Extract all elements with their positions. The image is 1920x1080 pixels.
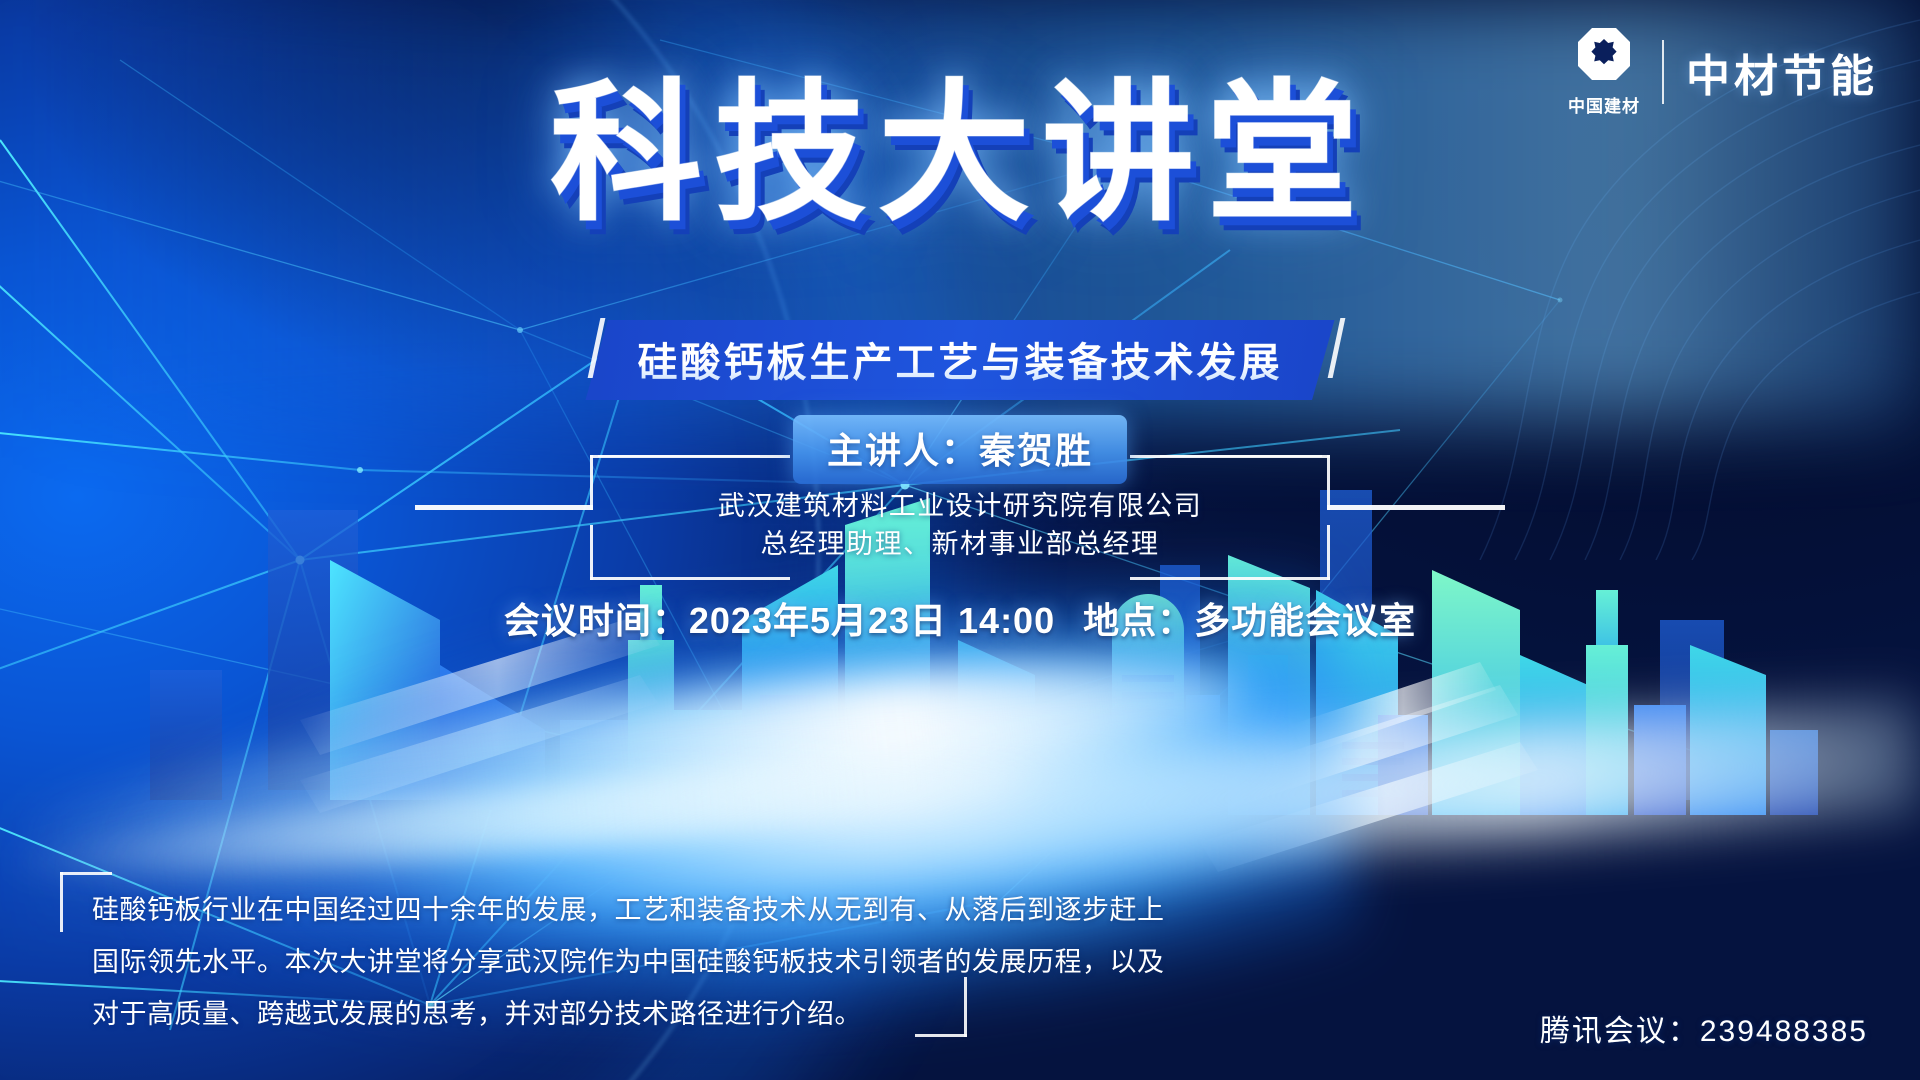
meeting-id-label: 腾讯会议：: [1540, 1015, 1700, 1048]
frame-rule-right: [1160, 455, 1322, 457]
meeting-id-value: 239488385: [1700, 1015, 1868, 1048]
speaker-name: 主讲人：秦贺胜: [827, 422, 1093, 474]
speaker-org-line-1: 武汉建筑材料工业设计研究院有限公司: [0, 487, 1920, 525]
meeting-place-value: 多功能会议室: [1194, 600, 1416, 641]
meeting-info-line: 会议时间：2023年5月23日 14:00地点：多功能会议室: [0, 592, 1920, 644]
description-line-2: 国际领先水平。本次大讲堂将分享武汉院作为中国硅酸钙板技术引领者的发展历程，以及: [92, 936, 1252, 988]
meeting-place-label: 地点：: [1083, 600, 1194, 641]
speaker-affiliation: 武汉建筑材料工业设计研究院有限公司 总经理助理、新材事业部总经理: [0, 487, 1920, 564]
desc-corner-top-left-vertical: [60, 872, 63, 932]
meeting-time-value: 2023年5月23日 14:00: [689, 600, 1055, 641]
description-block: 硅酸钙板行业在中国经过四十余年的发展，工艺和装备技术从无到有、从落后到逐步赶上 …: [60, 872, 1245, 1037]
frame-rule-left: [598, 455, 760, 457]
description-text: 硅酸钙板行业在中国经过四十余年的发展，工艺和装备技术从无到有、从落后到逐步赶上 …: [92, 884, 1252, 1040]
poster-canvas: 中国建材 中材节能 科技大讲堂 硅酸钙板生产工艺与装备技术发展 主讲人：秦贺胜 …: [0, 0, 1920, 1080]
meeting-time-label: 会议时间：: [504, 600, 689, 641]
speaker-badge: 主讲人：秦贺胜: [793, 415, 1127, 484]
description-line-3: 对于高质量、跨越式发展的思考，并对部分技术路径进行介绍。: [92, 988, 1252, 1040]
description-line-1: 硅酸钙板行业在中国经过四十余年的发展，工艺和装备技术从无到有、从落后到逐步赶上: [92, 884, 1252, 936]
page-title: 科技大讲堂: [0, 78, 1920, 230]
subtitle-text: 硅酸钙板生产工艺与装备技术发展: [638, 330, 1283, 388]
frame-bottom-right-horizontal: [1130, 577, 1330, 580]
subtitle-banner: 硅酸钙板生产工艺与装备技术发展: [586, 320, 1335, 400]
desc-corner-top-left-horizontal: [60, 872, 112, 875]
frame-bottom-left-horizontal: [590, 577, 790, 580]
meeting-id: 腾讯会议：239488385: [1540, 1006, 1868, 1050]
speaker-org-line-2: 总经理助理、新材事业部总经理: [0, 525, 1920, 563]
